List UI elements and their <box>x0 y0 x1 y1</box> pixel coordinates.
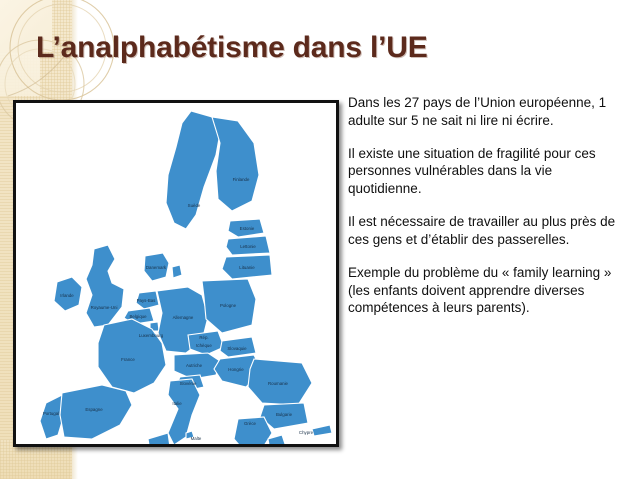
map-label-pays-bas: Pays-Bas <box>137 298 157 303</box>
map-label-italie: Italie <box>172 401 182 406</box>
map-label-luxembourg: Luxembourg <box>139 333 164 338</box>
map-label-hongrie: Hongrie <box>228 367 244 372</box>
map-label-irlande: Irlande <box>60 293 74 298</box>
map-label-suede: Suède <box>188 203 201 208</box>
slide-canvas: L’analphabétisme dans l’UE <box>0 0 638 479</box>
map-label-espagne: Espagne <box>85 407 103 412</box>
map-label-rep: Rép. <box>199 335 208 340</box>
map-label-chypre: Chypre <box>299 430 314 435</box>
map-label-lettonie: Lettonie <box>240 244 256 249</box>
eu-map-image: Finlande Suède Estonie Lettonie Lituanie… <box>13 100 339 447</box>
paragraph-2: Il existe une situation de fragilité pou… <box>348 145 626 198</box>
map-label-belgique: Belgique <box>129 314 147 319</box>
map-label-lituanie: Lituanie <box>239 265 255 270</box>
eu-map-svg: Finlande Suède Estonie Lettonie Lituanie… <box>16 103 336 444</box>
map-label-portugal: Portugal <box>43 411 59 416</box>
map-label-allemagne: Allemagne <box>173 315 194 320</box>
map-label-bulgarie: Bulgarie <box>276 412 293 417</box>
map-label-malte: Malte <box>191 436 202 441</box>
map-label-danemark: Danemark <box>146 265 167 270</box>
map-label-tcheque: tchèque <box>196 343 212 348</box>
map-label-autriche: Autriche <box>186 363 203 368</box>
map-label-france: France <box>121 357 135 362</box>
map-label-royaume-uni: Royaume-Uni <box>91 305 118 310</box>
map-label-grece: Grèce <box>244 421 257 426</box>
page-title: L’analphabétisme dans l’UE <box>36 31 428 65</box>
map-label-pologne: Pologne <box>220 303 237 308</box>
paragraph-3: Il est nécessaire de travailler au plus … <box>348 213 626 249</box>
map-label-roumanie: Roumanie <box>268 381 289 386</box>
map-label-slovaquie: Slovaquie <box>227 346 247 351</box>
paragraph-1: Dans les 27 pays de l’Union européenne, … <box>348 94 626 130</box>
map-label-estonie: Estonie <box>240 226 255 231</box>
map-label-finlande: Finlande <box>233 177 250 182</box>
map-label-slovenie: Slovénie <box>180 381 197 386</box>
body-text-block: Dans les 27 pays de l’Union européenne, … <box>348 94 626 317</box>
paragraph-4: Exemple du problème du « family learning… <box>348 264 626 317</box>
